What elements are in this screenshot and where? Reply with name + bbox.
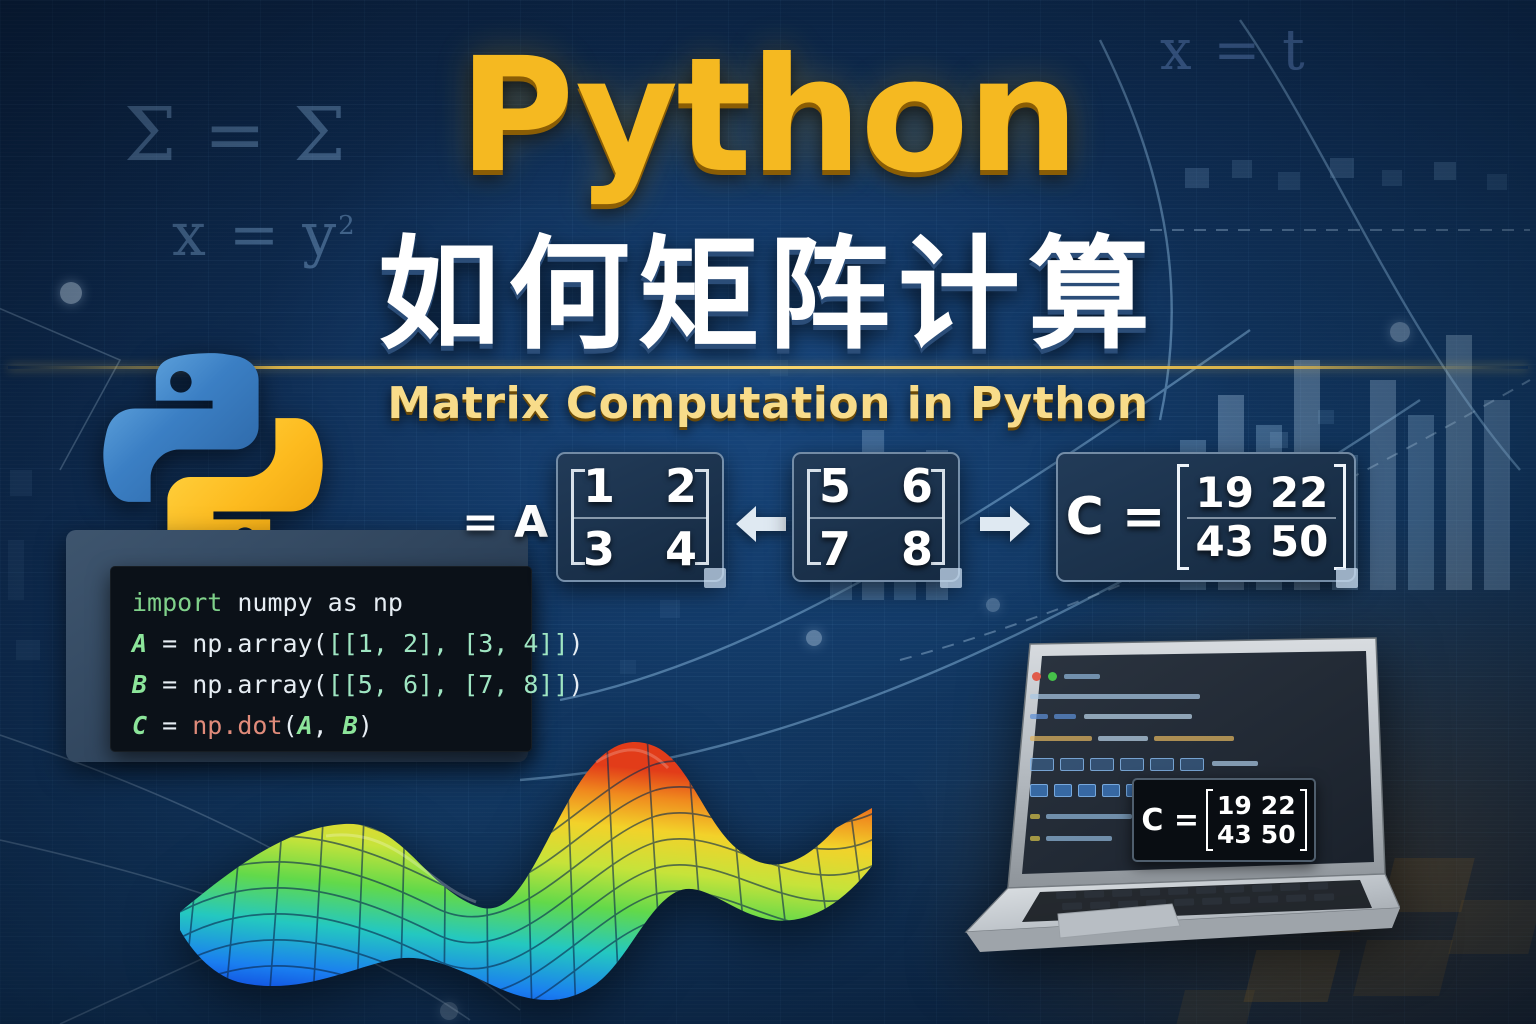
matrix-card-b: 5 6 7 8: [792, 452, 960, 582]
ide-code-line: [1046, 814, 1132, 819]
thumbnail-canvas: Σ = Σ x = y2 x = t Python 如何矩阵计算 Matrix …: [0, 0, 1536, 1024]
code-paren-close: ): [569, 670, 584, 699]
ide-code-line: [1046, 836, 1112, 841]
deco-square: [620, 660, 636, 674]
matrix-b-grid: 5 6 7 8: [794, 454, 958, 580]
ide-code-line: [1154, 736, 1234, 741]
code-paren-close: ): [569, 629, 584, 658]
code-var-a: A: [132, 629, 147, 658]
card-corner-tab: [704, 568, 726, 588]
code-line-1: import numpy as np: [132, 582, 532, 623]
laptop-result-overlay: C = 19 22 43 50: [1132, 778, 1316, 862]
matrix-c-cell-01: 22: [1270, 468, 1328, 517]
deco-orange-tile: [1175, 990, 1255, 1024]
page-title: Python: [0, 24, 1536, 208]
matrix-b-cell-01: 6: [901, 459, 933, 513]
matrix-a-grid: 1 2 3 4: [558, 454, 722, 580]
code-call-nparray: np.array(: [192, 629, 327, 658]
laptop-result-cell-01: 22: [1261, 791, 1296, 820]
card-corner-tab: [1336, 568, 1358, 588]
laptop-result-equals: C =: [1141, 803, 1199, 838]
matrix-b-cell-11: 8: [901, 522, 933, 576]
code-keyword-import: import: [132, 588, 222, 617]
ide-token-chip: [1090, 758, 1114, 771]
laptop-result-cell-00: 19: [1217, 791, 1252, 820]
ide-token-chip: [1078, 784, 1096, 797]
ide-token-chip: [1030, 758, 1054, 771]
ide-code-line: [1212, 761, 1258, 766]
matrix-a-cell-10: 3: [583, 522, 615, 576]
code-line-2: A = np.array([[1, 2], [3, 4]]): [132, 623, 532, 664]
ide-code-line: [1030, 714, 1048, 719]
matrix-c-equals-label: C =: [1066, 487, 1166, 547]
code-var-c: C: [132, 711, 147, 740]
ide-bullet-icon: [1030, 836, 1040, 841]
ide-token-chip: [1150, 758, 1174, 771]
matrix-a-cell-01: 2: [665, 459, 697, 513]
ide-token-chip: [1030, 784, 1048, 797]
laptop-result-matrix: 19 22 43 50: [1206, 789, 1307, 851]
equals-a-label: = A: [462, 497, 548, 548]
ide-token-chip: [1180, 758, 1204, 771]
matrix-row-divider: [1187, 517, 1336, 519]
matrix-card-c: C = 19 22 43 50: [1056, 452, 1356, 582]
code-module-numpy: numpy as np: [222, 588, 403, 617]
matrix-card-a: 1 2 3 4: [556, 452, 724, 582]
code-assign: =: [147, 670, 192, 699]
ide-code-line: [1084, 714, 1192, 719]
code-call-nparray: np.array(: [192, 670, 327, 699]
surface-plot-chart: [176, 716, 876, 1016]
ide-code-line: [1030, 736, 1092, 741]
matrix-a-cell-00: 1: [583, 459, 615, 513]
matrix-c-cell-00: 19: [1195, 468, 1253, 517]
matrix-c-cell-10: 43: [1195, 517, 1253, 566]
window-close-dot-icon[interactable]: [1032, 672, 1041, 681]
arrow-left-icon: [734, 500, 788, 548]
deco-square: [10, 470, 32, 496]
code-assign: =: [147, 629, 192, 658]
code-values-a: [[1, 2], [3, 4]]: [328, 629, 569, 658]
ide-token-chip: [1060, 758, 1084, 771]
ide-code-line: [1030, 694, 1200, 699]
deco-square: [660, 600, 680, 618]
ide-title-text: [1064, 674, 1100, 679]
ide-token-chip: [1120, 758, 1144, 771]
matrix-a-cell-11: 4: [665, 522, 697, 576]
deco-square: [16, 640, 40, 660]
matrix-c-cell-11: 50: [1270, 517, 1328, 566]
ide-bullet-icon: [1030, 814, 1040, 819]
deco-orange-tile: [1448, 900, 1536, 954]
bracket-left-icon: [1206, 789, 1213, 851]
code-values-b: [[5, 6], [7, 8]]: [328, 670, 569, 699]
ide-token-chip: [1102, 784, 1120, 797]
card-corner-tab: [940, 568, 962, 588]
deco-node: [986, 598, 1000, 612]
laptop-result-cell-10: 43: [1217, 820, 1252, 849]
code-line-3: B = np.array([[5, 6], [7, 8]]): [132, 664, 532, 705]
ide-token-chip: [1054, 784, 1072, 797]
ide-code-line: [1054, 714, 1076, 719]
arrow-right-icon: [978, 500, 1032, 548]
ide-code-line: [1098, 736, 1148, 741]
matrix-c-grid: 19 22 43 50: [1177, 464, 1346, 570]
deco-node: [806, 630, 822, 646]
deco-square: [8, 540, 24, 600]
matrix-b-cell-00: 5: [819, 459, 851, 513]
bracket-right-icon: [1300, 789, 1307, 851]
matrix-b-cell-10: 7: [819, 522, 851, 576]
code-var-b: B: [132, 670, 147, 699]
laptop-result-cell-11: 50: [1261, 820, 1296, 849]
window-maximize-dot-icon[interactable]: [1048, 672, 1057, 681]
deco-square: [1270, 432, 1288, 448]
